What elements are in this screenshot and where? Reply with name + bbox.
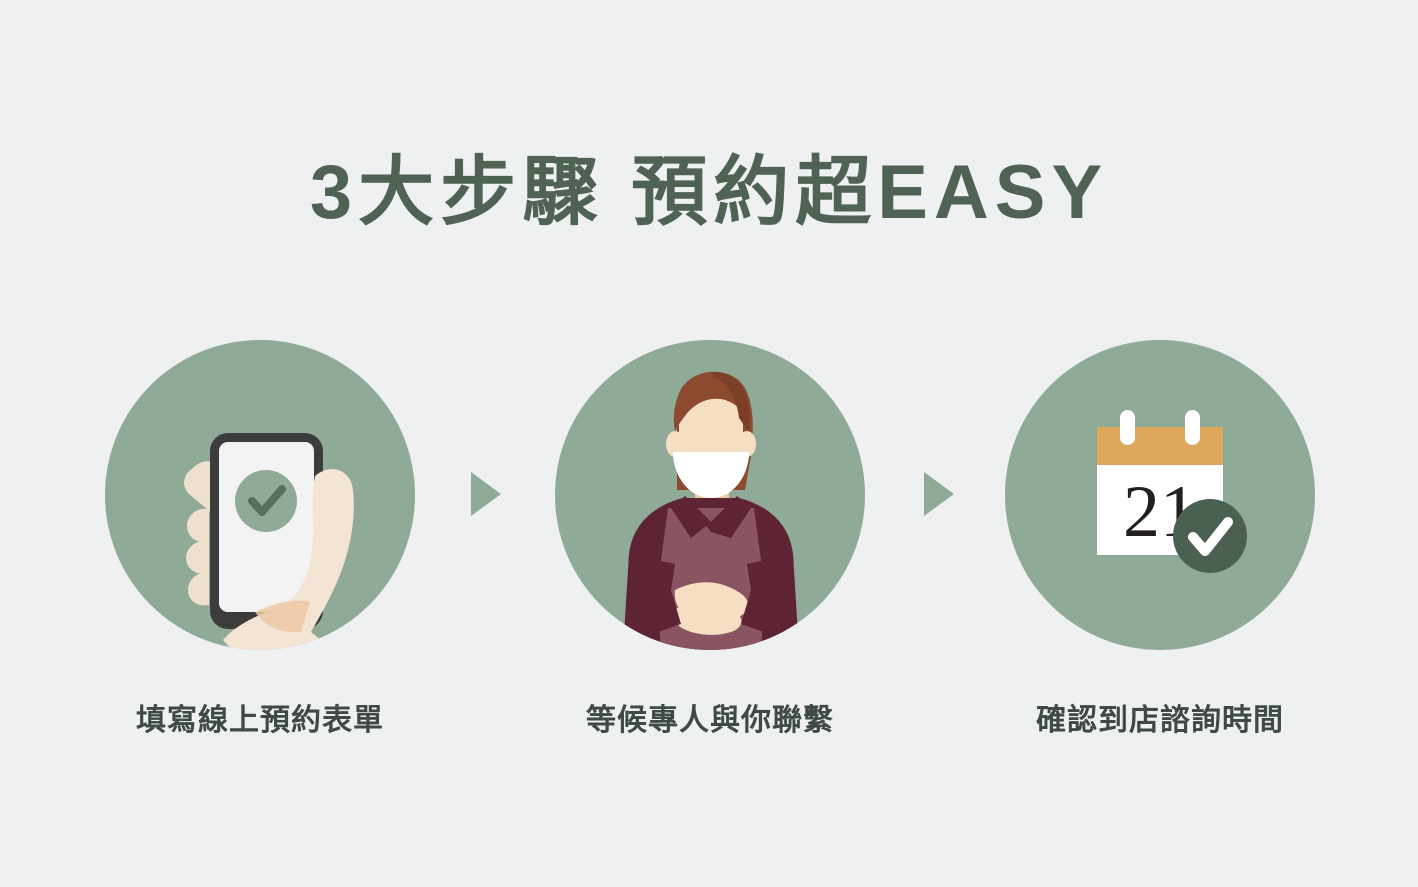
steps-row: 填寫線上預約表單	[0, 340, 1418, 760]
masked-staff-person-icon	[555, 340, 865, 650]
hand-holding-phone-icon	[105, 340, 415, 650]
step-3: 21 確認到店諮詢時間	[1005, 340, 1315, 650]
step-1: 填寫線上預約表單	[105, 340, 415, 650]
step-2-circle	[555, 340, 865, 650]
step-1-caption: 填寫線上預約表單	[65, 695, 455, 739]
calendar-confirmed-icon: 21	[1005, 340, 1315, 650]
step-3-circle: 21	[1005, 340, 1315, 650]
confirm-check-badge	[1173, 499, 1247, 573]
hand-fingers	[186, 509, 209, 606]
infographic-page: 3大步驟 預約超EASY	[0, 0, 1418, 887]
triangle-right-icon	[920, 470, 956, 518]
calendar-ring-right	[1185, 410, 1200, 445]
face-mask-icon	[673, 452, 749, 498]
page-title-container: 3大步驟 預約超EASY	[0, 104, 1418, 282]
step-2-caption: 等候專人與你聯繫	[515, 695, 905, 739]
step-3-caption: 確認到店諮詢時間	[965, 695, 1355, 739]
triangle-right-icon	[467, 470, 503, 518]
page-title: 3大步驟 預約超EASY	[310, 155, 1108, 231]
calendar-header	[1097, 427, 1223, 465]
arrow-step2-to-step3	[920, 470, 956, 518]
screen-check-badge	[235, 470, 297, 532]
step-1-circle	[105, 340, 415, 650]
step-2: 等候專人與你聯繫	[555, 340, 865, 650]
calendar-ring-left	[1120, 410, 1135, 445]
arrow-step1-to-step2	[467, 470, 503, 518]
